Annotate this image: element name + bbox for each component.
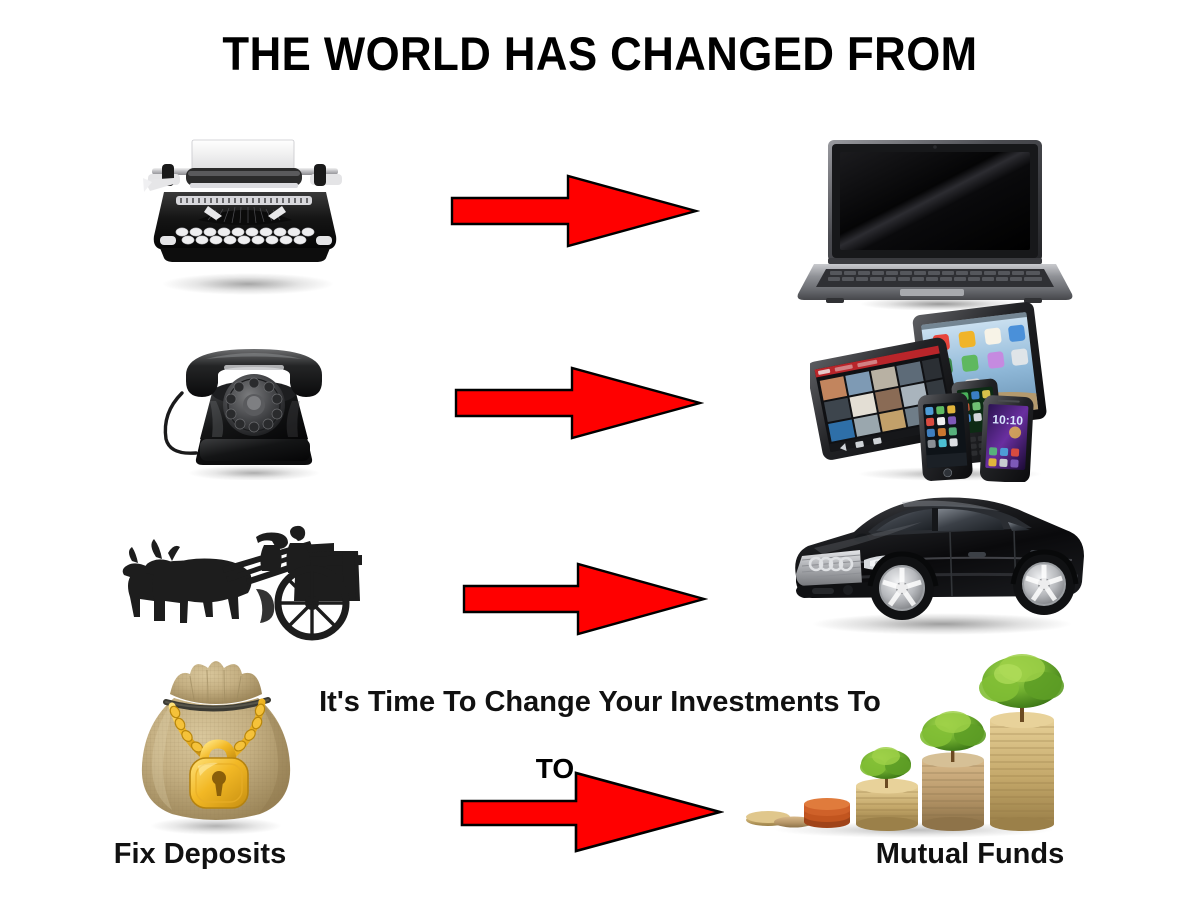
caption-fix-deposits: Fix Deposits xyxy=(40,838,360,871)
laptop-image xyxy=(790,130,1080,310)
rotary-telephone-image xyxy=(150,335,350,480)
locked-money-bag-image xyxy=(118,650,314,840)
tablets-and-smartphones-image: 10:10 xyxy=(810,302,1072,482)
arrow-phone-to-mobile-devices xyxy=(452,362,704,444)
luxury-sedan-car-image xyxy=(782,478,1094,638)
typewriter-image xyxy=(130,128,360,303)
bullock-cart-silhouette-image xyxy=(96,505,366,645)
arrow-bullock-cart-to-car xyxy=(460,558,708,640)
slide-canvas: THE WORLD HAS CHANGED FROM xyxy=(0,0,1200,900)
page-title: THE WORLD HAS CHANGED FROM xyxy=(42,26,1158,81)
coin-stacks-with-trees-image xyxy=(742,638,1078,838)
svg-text:10:10: 10:10 xyxy=(992,412,1024,428)
arrow-typewriter-to-laptop xyxy=(448,170,700,252)
caption-mutual-funds: Mutual Funds xyxy=(790,838,1150,871)
to-label: TO xyxy=(515,753,595,785)
